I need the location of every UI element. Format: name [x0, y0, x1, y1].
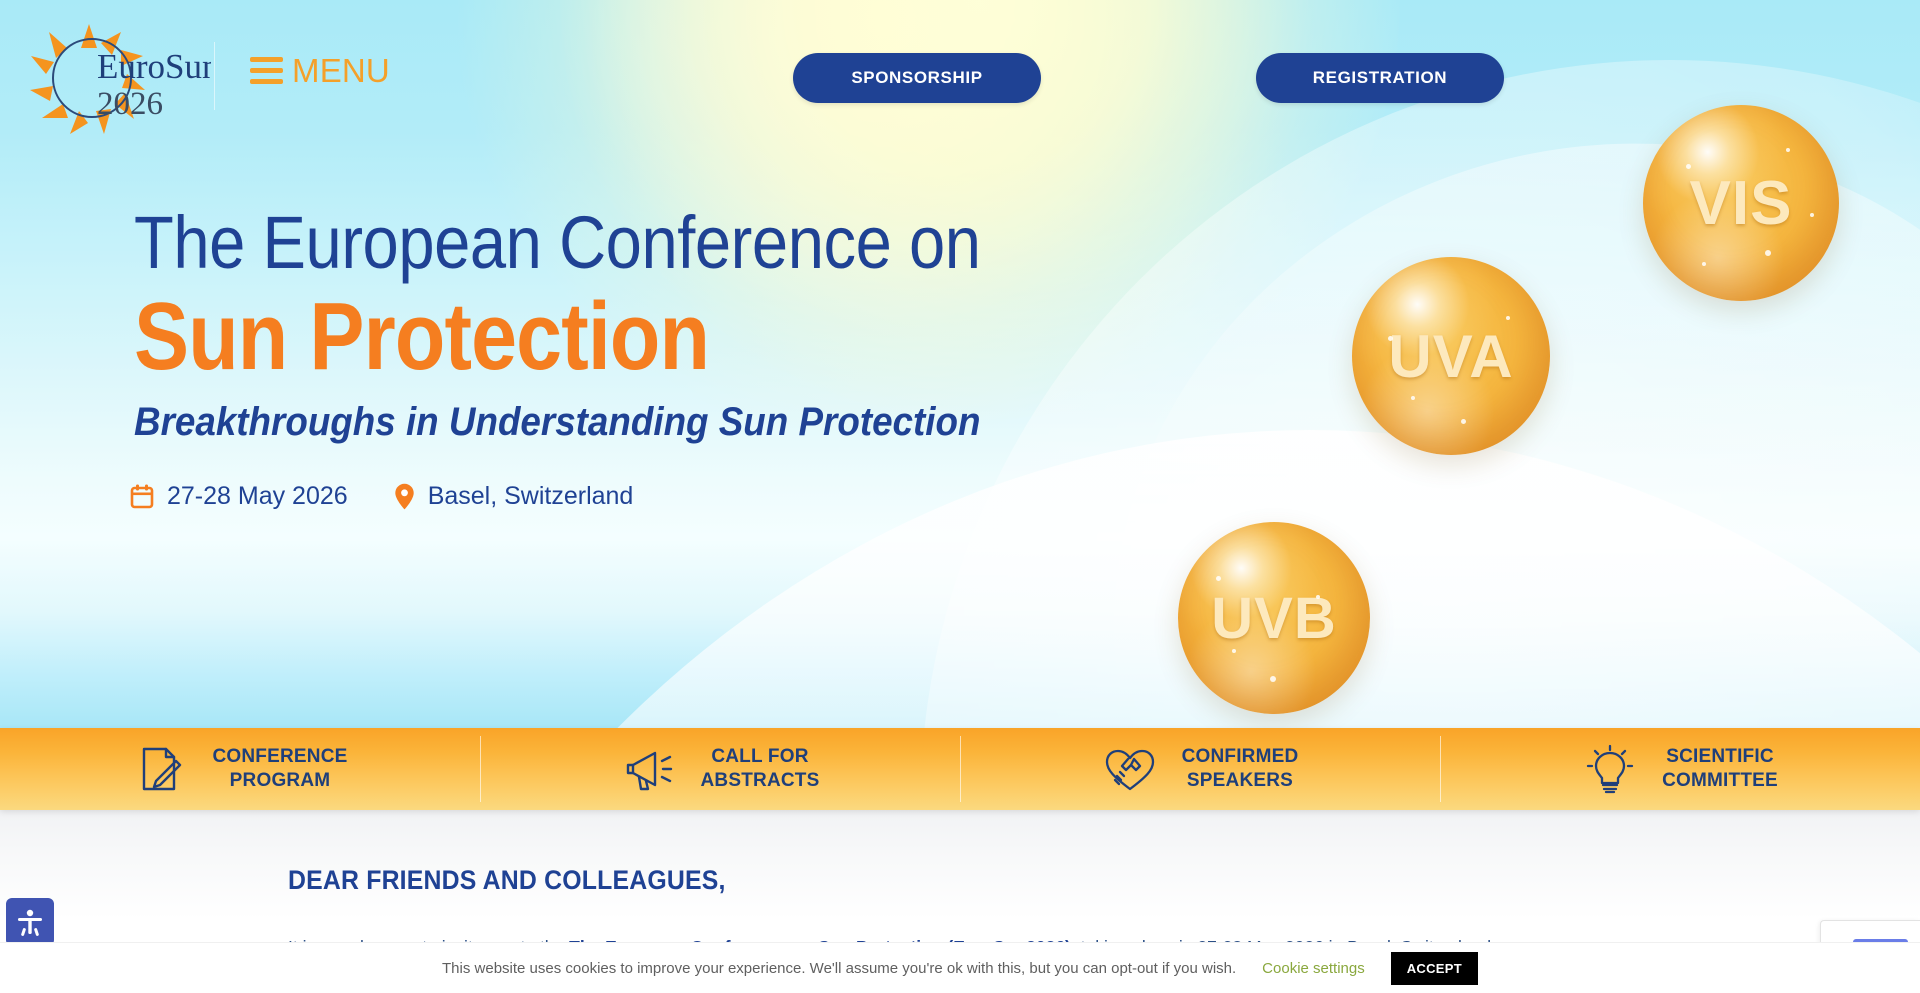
- logo-year: 2026: [97, 86, 163, 122]
- map-pin-icon: [394, 483, 415, 510]
- hero-headline: The European Conference on Sun Protectio…: [134, 205, 1096, 444]
- logo-title: EuroSun: [97, 47, 211, 86]
- quicklink-label: CALL FOR ABSTRACTS: [701, 745, 820, 793]
- handshake-heart-icon: [1102, 741, 1158, 797]
- accessibility-button[interactable]: [6, 898, 54, 946]
- quicklink-label: CONFERENCE PROGRAM: [212, 745, 347, 793]
- megaphone-icon: [621, 741, 677, 797]
- sphere-uvb: UVB: [1178, 522, 1370, 714]
- lightbulb-icon: [1582, 741, 1638, 797]
- quicklink-label: CONFIRMED SPEAKERS: [1182, 745, 1299, 793]
- background-swoosh-b: [260, 430, 1920, 728]
- hero-meta-row: 27-28 May 2026 Basel, Switzerland: [130, 482, 633, 511]
- event-location-text: Basel, Switzerland: [428, 482, 634, 511]
- headline-subtitle: Breakthroughs in Understanding Sun Prote…: [134, 400, 1019, 444]
- site-header: EuroSun 2026 MENU SPONSORSHIP REGISTRATI…: [0, 0, 1920, 155]
- sun-icon: EuroSun 2026: [26, 18, 211, 136]
- cookie-settings-link[interactable]: Cookie settings: [1262, 960, 1365, 977]
- quicklink-call-for-abstracts[interactable]: CALL FOR ABSTRACTS: [480, 728, 960, 810]
- event-location: Basel, Switzerland: [394, 482, 634, 511]
- sphere-uva: UVA: [1352, 257, 1550, 455]
- quicklink-conference-program[interactable]: CONFERENCE PROGRAM: [0, 728, 480, 810]
- cookie-banner: This website uses cookies to improve you…: [0, 942, 1920, 993]
- accessibility-person-icon: [15, 907, 45, 937]
- hamburger-icon: [250, 57, 283, 84]
- quicklink-label: SCIENTIFIC COMMITTEE: [1662, 745, 1778, 793]
- sponsorship-button[interactable]: SPONSORSHIP: [793, 53, 1041, 103]
- event-date-text: 27-28 May 2026: [167, 482, 348, 511]
- document-pencil-icon: [132, 741, 188, 797]
- headline-line-1: The European Conference on: [134, 205, 981, 280]
- quicklink-confirmed-speakers[interactable]: CONFIRMED SPEAKERS: [960, 728, 1440, 810]
- sphere-vis-label: VIS: [1690, 168, 1793, 239]
- sphere-uvb-label: UVB: [1211, 585, 1336, 652]
- calendar-icon: [130, 484, 154, 510]
- page-root: EuroSun 2026 MENU SPONSORSHIP REGISTRATI…: [0, 0, 1920, 993]
- quicklink-scientific-committee[interactable]: SCIENTIFIC COMMITTEE: [1440, 728, 1920, 810]
- cookie-message: This website uses cookies to improve you…: [442, 960, 1236, 977]
- section-heading: DEAR FRIENDS AND COLLEAGUES,: [288, 865, 1576, 896]
- event-date: 27-28 May 2026: [130, 482, 348, 511]
- header-divider: [214, 42, 215, 110]
- quicklinks-bar: CONFERENCE PROGRAM CALL FOR ABSTRACTS: [0, 728, 1920, 810]
- menu-label: MENU: [292, 54, 390, 87]
- headline-line-2: Sun Protection: [134, 288, 961, 386]
- site-logo[interactable]: EuroSun 2026: [26, 18, 211, 136]
- sphere-uva-label: UVA: [1388, 322, 1513, 391]
- menu-toggle[interactable]: MENU: [250, 54, 390, 87]
- cookie-accept-button[interactable]: ACCEPT: [1391, 952, 1478, 985]
- registration-button[interactable]: REGISTRATION: [1256, 53, 1504, 103]
